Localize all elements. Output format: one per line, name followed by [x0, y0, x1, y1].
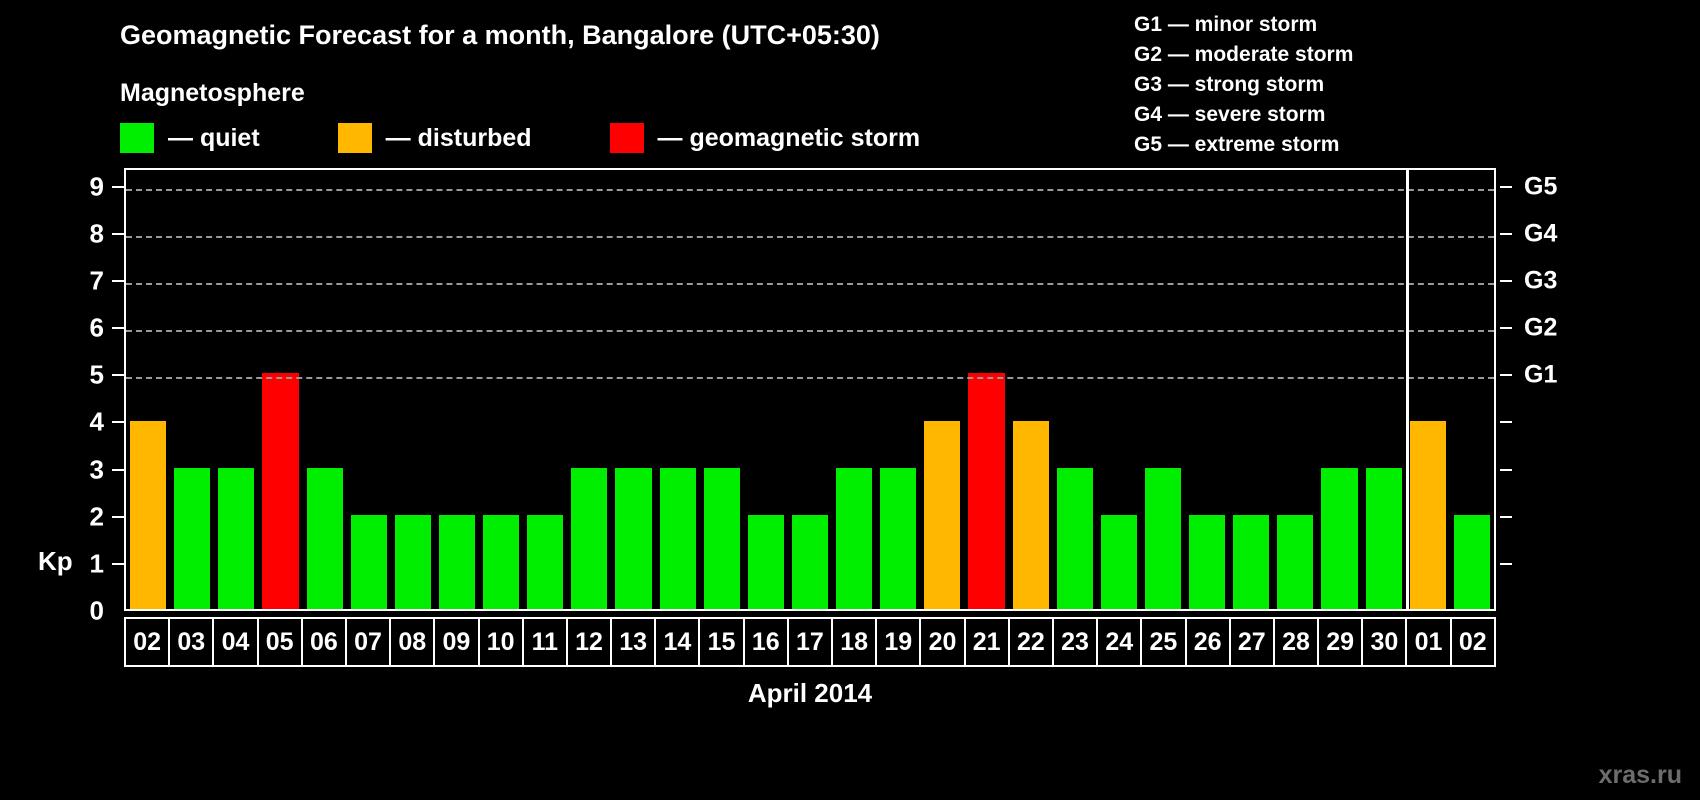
y-tick-mark-3	[112, 469, 124, 471]
y-tick-label-6: 6	[90, 313, 104, 344]
bar-23-quiet[interactable]	[1057, 468, 1093, 609]
x-axis-date-label: 16	[752, 628, 780, 657]
x-axis-date-label: 30	[1370, 628, 1398, 657]
bar-21-storm[interactable]	[968, 373, 1004, 609]
y-tick-mark-4	[112, 421, 124, 423]
x-axis-date-label: 10	[487, 628, 515, 657]
g-axis-minor-tick-kp-1	[1500, 563, 1512, 565]
g-tick-label-G1: G1	[1524, 361, 1557, 390]
gridline-kp-8	[126, 236, 1494, 238]
x-axis-date-label: 25	[1150, 628, 1178, 657]
y-tick-mark-8	[112, 233, 124, 235]
bar-07-quiet[interactable]	[351, 515, 387, 609]
bar-24-quiet[interactable]	[1101, 515, 1137, 609]
x-axis-date-label: 08	[398, 628, 426, 657]
x-axis-date-cell[interactable]: 02	[124, 619, 170, 665]
y-tick-label-9: 9	[90, 171, 104, 202]
legend-label-quiet: — quiet	[168, 124, 260, 153]
x-axis-dates: 0203040506070809101112131415161718192021…	[124, 617, 1496, 667]
bar-01-disturbed[interactable]	[1410, 421, 1446, 610]
y-tick-mark-7	[112, 280, 124, 282]
x-axis-date-cell[interactable]: 11	[524, 619, 568, 665]
y-tick-label-5: 5	[90, 360, 104, 391]
bar-05-storm[interactable]	[262, 373, 298, 609]
bar-02-disturbed[interactable]	[130, 421, 166, 610]
x-axis-date-label: 24	[1105, 628, 1133, 657]
legend-item-storm: — geomagnetic storm	[610, 123, 921, 153]
y-tick-mark-6	[112, 327, 124, 329]
g-axis-minor-tick-kp-4	[1500, 421, 1512, 423]
bar-16-quiet[interactable]	[748, 515, 784, 609]
x-axis-date-label: 03	[177, 628, 205, 657]
bar-09-quiet[interactable]	[439, 515, 475, 609]
legend: — quiet— disturbed— geomagnetic storm	[120, 122, 998, 154]
x-axis-date-cell[interactable]: 01	[1407, 619, 1451, 665]
chart-page: Geomagnetic Forecast for a month, Bangal…	[0, 0, 1700, 800]
y-tick-label-4: 4	[90, 407, 104, 438]
x-axis-date-cell[interactable]: 10	[480, 619, 524, 665]
x-axis-date-label: 22	[1017, 628, 1045, 657]
bar-28-quiet[interactable]	[1277, 515, 1313, 609]
y-tick-mark-9	[112, 186, 124, 188]
x-axis-date-label: 27	[1238, 628, 1266, 657]
x-axis-date-label: 20	[929, 628, 957, 657]
x-axis-date-cell[interactable]: 15	[700, 619, 744, 665]
bar-27-quiet[interactable]	[1233, 515, 1269, 609]
x-axis-date-label: 19	[884, 628, 912, 657]
bar-13-quiet[interactable]	[615, 468, 651, 609]
y-tick-label-0: 0	[90, 596, 104, 627]
legend-label-storm: — geomagnetic storm	[658, 124, 921, 153]
g-tick-label-G5: G5	[1524, 172, 1557, 201]
plot-area	[124, 168, 1496, 611]
g-tick-mark-G2	[1500, 327, 1512, 329]
x-axis-date-cell[interactable]: 19	[877, 619, 921, 665]
x-axis-date-label: 11	[532, 628, 558, 657]
y-tick-label-2: 2	[90, 501, 104, 532]
x-axis-date-cell[interactable]: 23	[1054, 619, 1098, 665]
x-axis-date-cell[interactable]: 07	[347, 619, 391, 665]
x-axis-date-label: 14	[663, 628, 691, 657]
x-axis-date-cell[interactable]: 16	[745, 619, 789, 665]
x-axis-date-cell[interactable]: 25	[1142, 619, 1186, 665]
bar-19-quiet[interactable]	[880, 468, 916, 609]
storm-scale-legend: G1 — minor stormG2 — moderate stormG3 — …	[1134, 10, 1554, 160]
x-axis-date-label: 29	[1326, 628, 1354, 657]
g-tick-label-G3: G3	[1524, 267, 1557, 296]
x-axis-date-label: 26	[1194, 628, 1222, 657]
gridline-kp-7	[126, 283, 1494, 285]
storm-scale-row-4: G4 — severe storm	[1134, 100, 1554, 130]
x-axis-date-cell[interactable]: 24	[1098, 619, 1142, 665]
bar-15-quiet[interactable]	[704, 468, 740, 609]
g-axis-minor-tick-kp-2	[1500, 516, 1512, 518]
x-axis-label: April 2014	[0, 678, 1620, 709]
x-axis-date-label: 21	[973, 628, 1001, 657]
bar-18-quiet[interactable]	[836, 468, 872, 609]
x-axis-date-label: 02	[133, 628, 161, 657]
gridline-kp-5	[126, 377, 1494, 379]
x-axis-date-cell[interactable]: 12	[568, 619, 612, 665]
x-axis-date-label: 28	[1282, 628, 1310, 657]
bar-22-disturbed[interactable]	[1013, 421, 1049, 610]
x-axis-date-label: 12	[575, 628, 603, 657]
x-axis-date-label: 06	[310, 628, 338, 657]
legend-item-disturbed: — disturbed	[338, 123, 532, 153]
x-axis-date-cell[interactable]: 06	[303, 619, 347, 665]
bar-02-quiet[interactable]	[1454, 515, 1490, 609]
storm-scale-row-2: G2 — moderate storm	[1134, 40, 1554, 70]
x-axis-date-cell[interactable]: 20	[921, 619, 965, 665]
x-axis-date-label: 07	[354, 628, 382, 657]
bar-03-quiet[interactable]	[174, 468, 210, 609]
g-tick-mark-G5	[1500, 186, 1512, 188]
g-tick-label-G4: G4	[1524, 219, 1557, 248]
x-axis-date-cell[interactable]: 18	[833, 619, 877, 665]
watermark: xras.ru	[1599, 761, 1682, 790]
x-axis-date-cell[interactable]: 29	[1319, 619, 1363, 665]
x-axis-date-label: 02	[1459, 628, 1487, 657]
gridline-kp-9	[126, 189, 1494, 191]
x-axis-date-label: 23	[1061, 628, 1089, 657]
bar-30-quiet[interactable]	[1366, 468, 1402, 609]
g-tick-mark-G4	[1500, 233, 1512, 235]
x-axis-date-label: 01	[1415, 628, 1443, 657]
page-title: Geomagnetic Forecast for a month, Bangal…	[120, 20, 880, 51]
x-axis-date-label: 18	[840, 628, 868, 657]
bar-08-quiet[interactable]	[395, 515, 431, 609]
bar-04-quiet[interactable]	[218, 468, 254, 609]
y-tick-label-8: 8	[90, 218, 104, 249]
x-axis-date-label: 05	[266, 628, 294, 657]
bar-11-quiet[interactable]	[527, 515, 563, 609]
bar-25-quiet[interactable]	[1145, 468, 1181, 609]
bar-14-quiet[interactable]	[660, 468, 696, 609]
y-axis-label: Kp	[38, 546, 73, 577]
y-tick-label-1: 1	[90, 548, 104, 579]
bar-20-disturbed[interactable]	[924, 421, 960, 610]
x-axis-date-cell[interactable]: 05	[259, 619, 303, 665]
storm-scale-row-1: G1 — minor storm	[1134, 10, 1554, 40]
y-tick-label-3: 3	[90, 454, 104, 485]
y-tick-mark-1	[112, 563, 124, 565]
g-tick-mark-G3	[1500, 280, 1512, 282]
bar-29-quiet[interactable]	[1321, 468, 1357, 609]
legend-swatch-storm	[610, 123, 644, 153]
x-axis-date-label: 09	[443, 628, 471, 657]
x-axis-date-cell[interactable]: 27	[1231, 619, 1275, 665]
gridline-kp-6	[126, 330, 1494, 332]
g-tick-label-G2: G2	[1524, 314, 1557, 343]
g-scale-axis: G1G2G3G4G5	[1500, 168, 1620, 611]
x-axis-date-cell[interactable]: 30	[1363, 619, 1407, 665]
bar-26-quiet[interactable]	[1189, 515, 1225, 609]
x-axis-date-label: 15	[708, 628, 736, 657]
bar-10-quiet[interactable]	[483, 515, 519, 609]
y-tick-mark-2	[112, 516, 124, 518]
chart-subtitle: Magnetosphere	[120, 79, 305, 108]
legend-label-disturbed: — disturbed	[386, 124, 532, 153]
storm-scale-row-3: G3 — strong storm	[1134, 70, 1554, 100]
x-axis-date-cell[interactable]: 02	[1452, 619, 1496, 665]
x-axis-date-label: 04	[222, 628, 250, 657]
x-axis-date-cell[interactable]: 21	[966, 619, 1010, 665]
y-axis: Kp 0123456789	[0, 168, 120, 611]
x-axis-date-cell[interactable]: 22	[1010, 619, 1054, 665]
x-axis-date-cell[interactable]: 13	[612, 619, 656, 665]
x-axis-date-cell[interactable]: 03	[170, 619, 214, 665]
y-tick-label-7: 7	[90, 266, 104, 297]
bar-17-quiet[interactable]	[792, 515, 828, 609]
bar-06-quiet[interactable]	[307, 468, 343, 609]
legend-swatch-quiet	[120, 123, 154, 153]
month-divider	[1406, 170, 1409, 609]
storm-scale-row-5: G5 — extreme storm	[1134, 130, 1554, 160]
y-tick-mark-5	[112, 374, 124, 376]
x-axis-date-label: 17	[796, 628, 824, 657]
g-axis-minor-tick-kp-3	[1500, 469, 1512, 471]
x-axis-date-cell[interactable]: 04	[214, 619, 258, 665]
x-axis-date-cell[interactable]: 17	[789, 619, 833, 665]
x-axis-date-cell[interactable]: 26	[1187, 619, 1231, 665]
x-axis-date-cell[interactable]: 14	[656, 619, 700, 665]
x-axis-date-cell[interactable]: 09	[435, 619, 479, 665]
g-tick-mark-G1	[1500, 374, 1512, 376]
x-axis-date-cell[interactable]: 28	[1275, 619, 1319, 665]
legend-item-quiet: — quiet	[120, 123, 260, 153]
x-axis-date-label: 13	[619, 628, 647, 657]
x-axis-date-cell[interactable]: 08	[391, 619, 435, 665]
legend-swatch-disturbed	[338, 123, 372, 153]
bar-12-quiet[interactable]	[571, 468, 607, 609]
